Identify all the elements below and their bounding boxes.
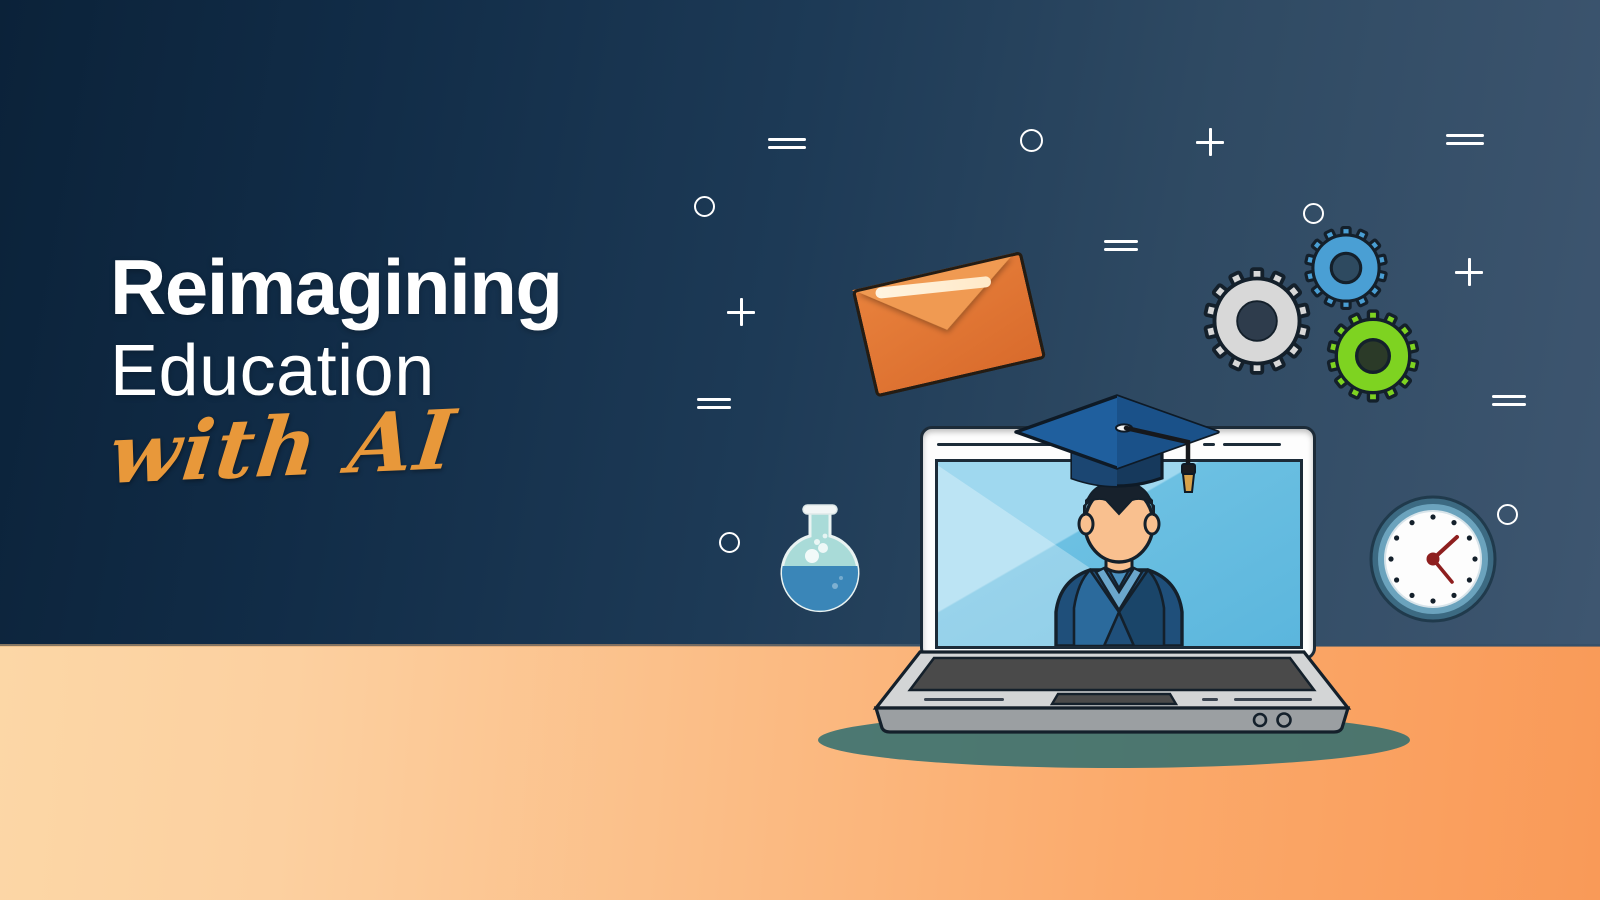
headline-line-1: Reimagining xyxy=(110,250,750,325)
equals-symbol xyxy=(768,138,806,149)
laptop-illustration xyxy=(862,420,1362,750)
flask-icon xyxy=(765,478,875,618)
gear-green-icon xyxy=(1322,305,1424,407)
gear-gray-icon xyxy=(1198,262,1316,380)
circle-symbol xyxy=(719,532,740,553)
laptop-base xyxy=(862,650,1362,736)
banner-root: Reimagining Education with AI xyxy=(0,0,1600,900)
headline-line-3: with AI xyxy=(105,399,460,496)
circle-symbol xyxy=(1020,129,1043,152)
gear-blue-icon xyxy=(1300,222,1392,314)
circle-symbol xyxy=(1497,504,1518,525)
plus-symbol xyxy=(1455,258,1483,286)
equals-symbol xyxy=(697,398,731,409)
graduation-cap-icon xyxy=(1002,388,1232,506)
equals-symbol xyxy=(1492,395,1526,406)
equals-symbol xyxy=(1446,134,1484,145)
clock-icon xyxy=(1366,492,1500,626)
circle-symbol xyxy=(694,196,715,217)
plus-symbol xyxy=(1196,128,1224,156)
plus-symbol xyxy=(727,298,755,326)
headline-block: Reimagining Education with AI xyxy=(110,250,750,496)
circle-symbol xyxy=(1303,203,1324,224)
equals-symbol xyxy=(1104,240,1138,251)
